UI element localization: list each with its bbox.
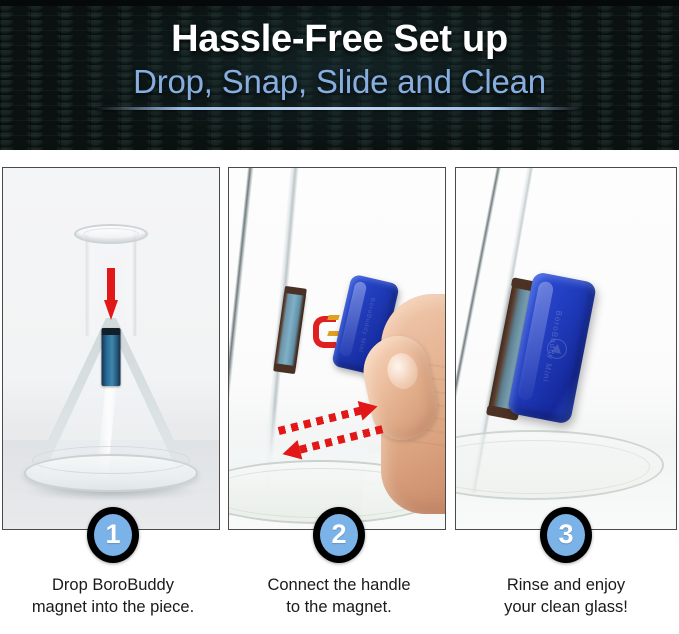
caption-line-2: to the magnet.	[226, 596, 452, 618]
caption-line-1: Drop BoroBuddy	[0, 574, 226, 596]
step-2-image: BoroBuddy Mini	[228, 167, 446, 530]
slide-arrows-icon	[277, 406, 395, 472]
step-1: 1 Drop BoroBuddy magnet into the piece.	[0, 530, 226, 634]
header-divider	[96, 107, 583, 110]
flask-base-inner	[32, 446, 190, 474]
caption-line-1: Rinse and enjoy	[453, 574, 679, 596]
page-title: Hassle-Free Set up	[0, 17, 679, 61]
flask-rim-inner	[83, 228, 139, 240]
drop-arrow-icon	[104, 268, 118, 320]
thumbnail	[384, 350, 421, 391]
step-1-caption: Drop BoroBuddy magnet into the piece.	[0, 574, 226, 618]
instruction-poster: Hassle-Free Set up Drop, Snap, Slide and…	[0, 0, 679, 634]
step-3-badge: 3	[540, 507, 592, 563]
page-subtitle: Drop, Snap, Slide and Clean	[0, 62, 679, 102]
step-3-image: BoroBuddy Mini	[455, 167, 677, 530]
caption-line-2: your clean glass!	[453, 596, 679, 618]
caption-line-2: magnet into the piece.	[0, 596, 226, 618]
caption-line-1: Connect the handle	[226, 574, 452, 596]
step-3-caption: Rinse and enjoy your clean glass!	[453, 574, 679, 618]
header-banner: Hassle-Free Set up Drop, Snap, Slide and…	[0, 0, 679, 150]
step-1-image	[2, 167, 220, 530]
step-2-badge: 2	[313, 507, 365, 563]
step-2-caption: Connect the handle to the magnet.	[226, 574, 452, 618]
step-1-number: 1	[105, 521, 120, 548]
step-1-badge: 1	[87, 507, 139, 563]
step-captions: 1 Drop BoroBuddy magnet into the piece. …	[0, 530, 679, 634]
step-2-number: 2	[331, 521, 346, 548]
step-images: BoroBuddy Mini	[0, 167, 679, 530]
step-3-number: 3	[558, 521, 573, 548]
step-2: 2 Connect the handle to the magnet.	[226, 530, 452, 634]
step-3: 3 Rinse and enjoy your clean glass!	[453, 530, 679, 634]
magnet-insert	[102, 328, 121, 386]
